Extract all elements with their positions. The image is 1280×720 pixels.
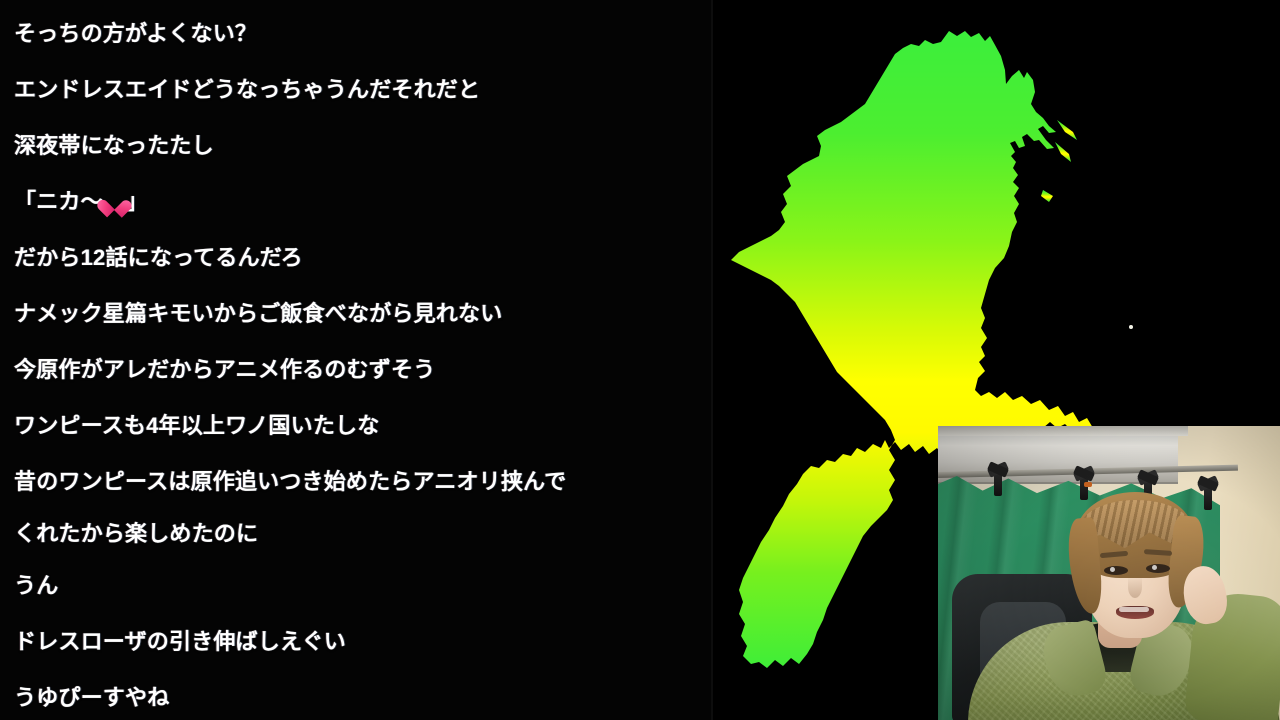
comment-line: 深夜帯になったたし <box>14 118 698 174</box>
comment-line: うゆぴーすやね <box>14 670 698 720</box>
eye-highlight-left <box>1110 567 1115 572</box>
island-marker-dot <box>1129 325 1133 329</box>
heart-emoji <box>104 193 125 212</box>
eye-highlight-right <box>1152 565 1157 570</box>
map-islet <box>1055 142 1071 162</box>
clothespin-clip-icon <box>1204 484 1212 510</box>
comment-line: ドレスローザの引き伸ばしえぐい <box>14 614 698 670</box>
comment-line: エンドレスエイドどうなっちゃうんだそれだと <box>14 62 698 118</box>
streamer-teeth <box>1119 607 1149 612</box>
comment-line: 今原作がアレだからアニメ作るのむずそう <box>14 342 698 398</box>
comment-line: ナメック星篇キモいからご飯食べながら見れない <box>14 286 698 342</box>
streamer-nose <box>1128 576 1142 598</box>
comment-line-wrapped: くれたから楽しめたのに <box>14 510 698 558</box>
comment-feed-panel: そっちの方がよくない？ エンドレスエイドどうなっちゃうんだそれだと 深夜帯になっ… <box>0 0 712 720</box>
comment-line: だから12話になってるんだろ <box>14 230 698 286</box>
clothespin-clip-icon <box>994 470 1002 496</box>
streamer-eye-left <box>1104 566 1128 575</box>
comment-line: うん <box>14 558 698 614</box>
comment-line-with-emoji: 「ニカ～」 <box>14 174 698 230</box>
map-islet <box>1057 120 1077 140</box>
stream-canvas: そっちの方がよくない？ エンドレスエイドどうなっちゃうんだそれだと 深夜帯になっ… <box>0 0 1280 720</box>
comment-line: ワンピースも4年以上ワノ国いたしな <box>14 398 698 454</box>
streamer-webcam[interactable] <box>938 426 1280 720</box>
clothespin-clip-icon <box>1080 474 1088 500</box>
comment-list: そっちの方がよくない？ エンドレスエイドどうなっちゃうんだそれだと 深夜帯になっ… <box>14 6 698 720</box>
map-islet <box>1041 190 1053 202</box>
comment-line: 昔のワンピースは原作追いつき始めたらアニオリ挟んで <box>14 454 698 510</box>
streamer-eye-right <box>1146 564 1170 573</box>
clip-orange-dot <box>1084 482 1092 487</box>
webcam-door-header <box>938 426 1188 436</box>
comment-text-before-emoji: 「ニカ～ <box>14 189 103 214</box>
comment-line: そっちの方がよくない？ <box>14 6 698 62</box>
